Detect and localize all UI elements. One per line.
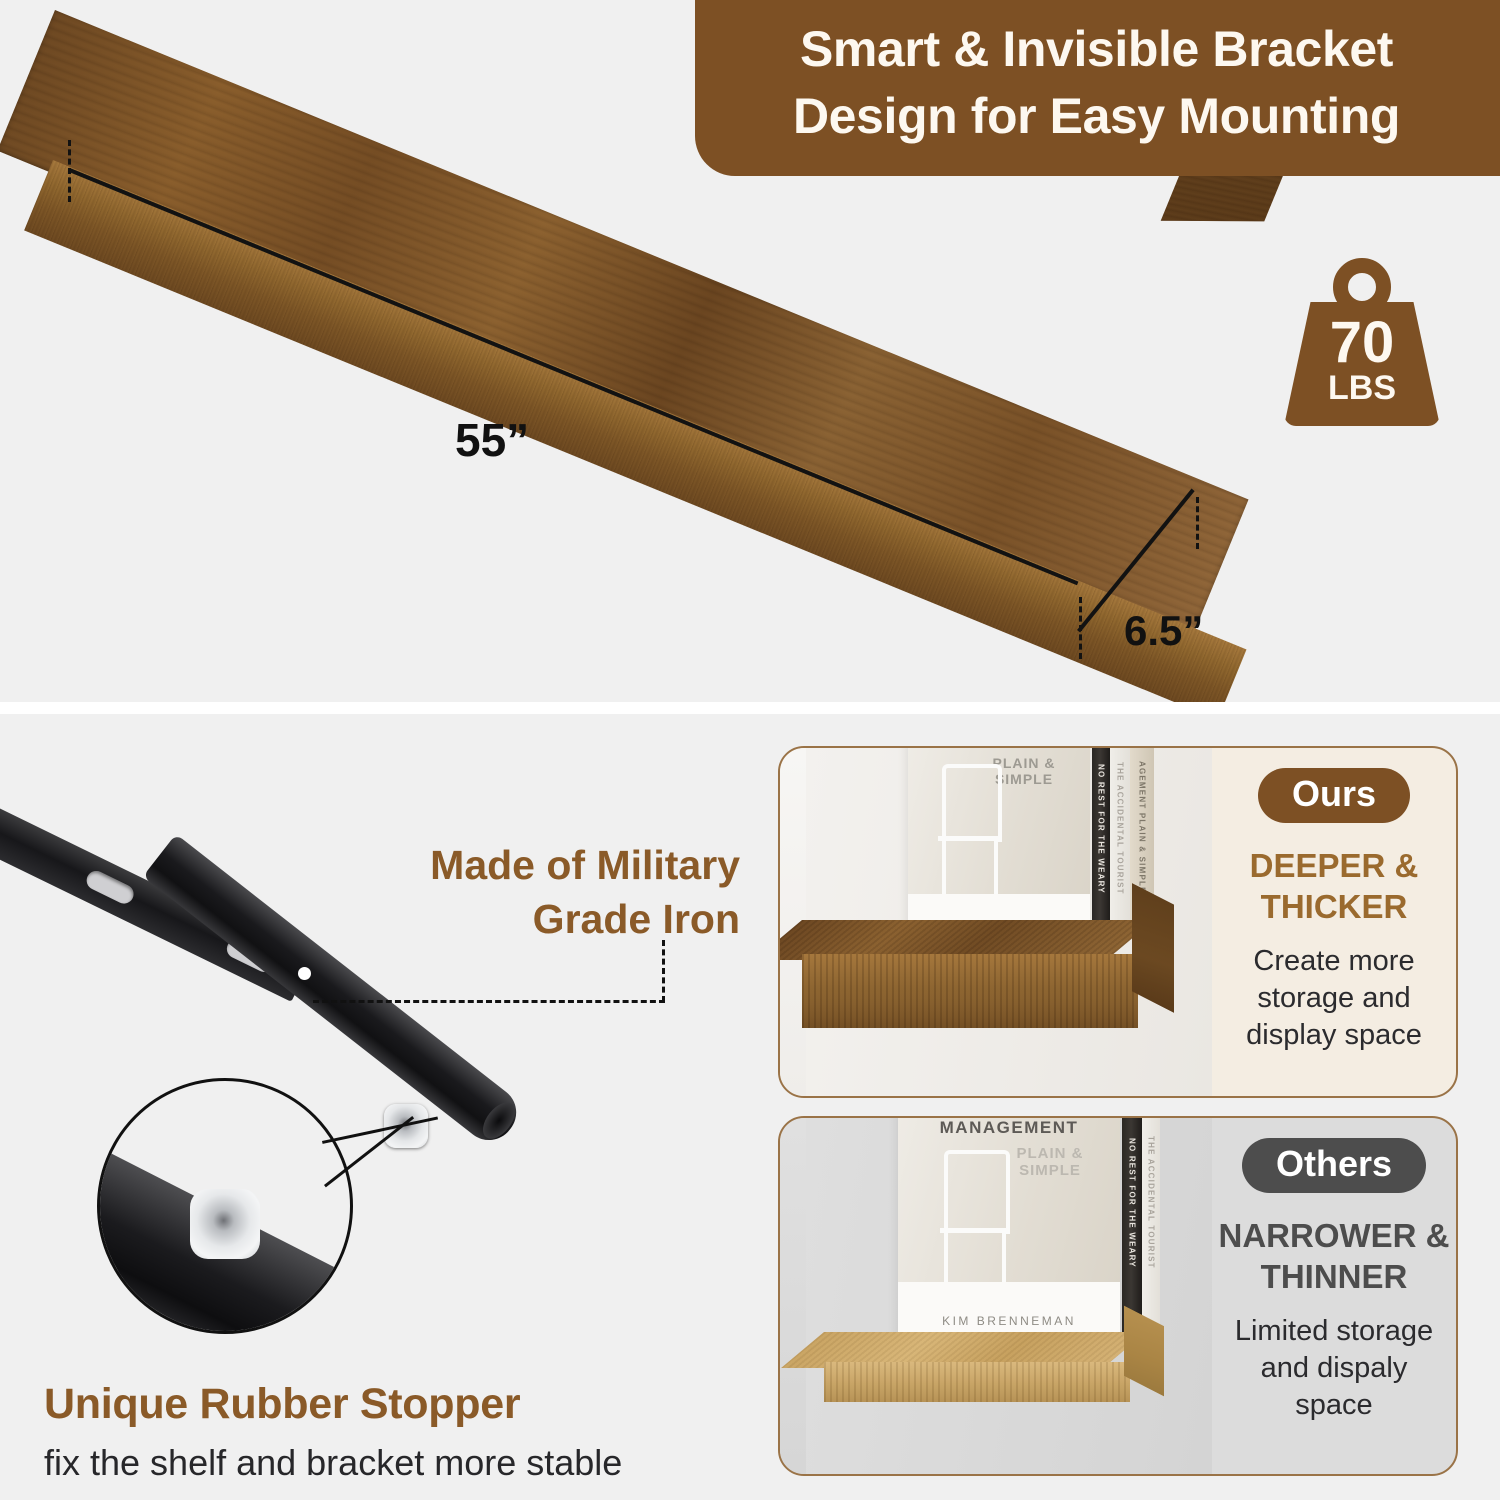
others-cover-book: HOME MANAGEMENT PLAIN & SIMPLE KIM BRENN…: [898, 1118, 1120, 1352]
ours-scene: PLAIN & SIMPLE KIM BRENNEMAN NO REST FOR…: [780, 748, 1212, 1096]
others-text-block: Others NARROWER & THINNER Limited storag…: [1212, 1118, 1456, 1474]
others-headline-line2: THINNER: [1212, 1256, 1456, 1297]
rubber-stopper-subtext: fix the shelf and bracket more stable: [44, 1443, 622, 1483]
others-headline: NARROWER & THINNER: [1212, 1215, 1456, 1298]
book-spine: NO REST FOR THE WEARY: [1092, 748, 1110, 934]
depth-dimension-label: 6.5”: [1124, 607, 1203, 655]
weight-unit: LBS: [1276, 371, 1448, 405]
book-spine: THE ACCIDENTAL TOURIST: [1142, 1118, 1160, 1336]
others-cover-author: KIM BRENNEMAN: [898, 1314, 1120, 1328]
others-cover-title-line1: PLAIN &: [1017, 1145, 1084, 1162]
military-heading-line1: Made of Military: [250, 838, 740, 892]
comparison-card-others: HOME MANAGEMENT PLAIN & SIMPLE KIM BRENN…: [778, 1116, 1458, 1476]
comparison-card-ours: PLAIN & SIMPLE KIM BRENNEMAN NO REST FOR…: [778, 746, 1458, 1098]
others-shelf-front: [824, 1362, 1130, 1402]
badge-ours: Ours: [1258, 768, 1410, 823]
ours-headline: DEEPER & THICKER: [1212, 845, 1456, 928]
ours-text-block: Ours DEEPER & THICKER Create more storag…: [1212, 748, 1456, 1096]
ours-description: Create more storage and display space: [1212, 943, 1456, 1054]
others-headline-line1: NARROWER &: [1212, 1215, 1456, 1256]
book-spine: NO REST FOR THE WEARY: [1122, 1118, 1142, 1338]
hero-dimensions-panel: 55” 6.5” Smart & Invisible Bracket Desig…: [0, 0, 1500, 702]
dim-extension-depth-top: [1196, 497, 1199, 549]
others-cover-title-line2: SIMPLE: [1019, 1162, 1081, 1179]
book-spine: THE ACCIDENTAL TOURIST: [1110, 748, 1130, 932]
military-callout-anchor-dot: [298, 967, 311, 980]
military-grade-heading: Made of Military Grade Iron: [250, 838, 740, 946]
rubber-stopper-magnifier: [97, 1078, 353, 1334]
others-product-photo: HOME MANAGEMENT PLAIN & SIMPLE KIM BRENN…: [780, 1118, 1212, 1474]
mounting-slot: [83, 868, 136, 907]
military-leader-vertical: [662, 940, 665, 1002]
header-title-line1: Smart & Invisible Bracket: [735, 16, 1458, 83]
magnified-rubber-stopper: [190, 1189, 260, 1259]
chair-leg: [942, 840, 946, 898]
ours-shelf-front: [802, 954, 1138, 1028]
others-description: Limited storage and dispaly space: [1212, 1313, 1456, 1424]
chair-illustration: [944, 1150, 1010, 1234]
others-cover-title-sub: MANAGEMENT: [898, 1118, 1120, 1138]
chair-seat: [940, 1228, 1008, 1233]
header-banner: Smart & Invisible Bracket Design for Eas…: [695, 0, 1500, 176]
weight-value: 70: [1276, 314, 1448, 372]
military-leader-horizontal: [313, 1000, 665, 1003]
others-scene: HOME MANAGEMENT PLAIN & SIMPLE KIM BRENN…: [780, 1118, 1212, 1474]
rod-open-end: [477, 1097, 522, 1145]
others-cover-title: PLAIN & SIMPLE: [994, 1146, 1106, 1180]
length-dimension-label: 55”: [455, 413, 529, 467]
ours-shelf-end: [1132, 883, 1174, 1012]
military-heading-line2: Grade Iron: [250, 892, 740, 946]
rubber-stopper-heading: Unique Rubber Stopper: [44, 1381, 520, 1428]
ours-headline-line2: THICKER: [1212, 886, 1456, 927]
chair-illustration: [942, 764, 1002, 842]
ours-cover-title-line2: SIMPLE: [995, 771, 1053, 787]
chair-seat: [938, 836, 1000, 841]
chair-leg: [994, 840, 998, 898]
badge-others: Others: [1242, 1138, 1426, 1193]
ours-product-photo: PLAIN & SIMPLE KIM BRENNEMAN NO REST FOR…: [780, 748, 1212, 1096]
ours-headline-line1: DEEPER &: [1212, 845, 1456, 886]
header-title-line2: Design for Easy Mounting: [735, 83, 1458, 150]
weight-capacity-badge: 70 LBS: [1276, 258, 1448, 426]
